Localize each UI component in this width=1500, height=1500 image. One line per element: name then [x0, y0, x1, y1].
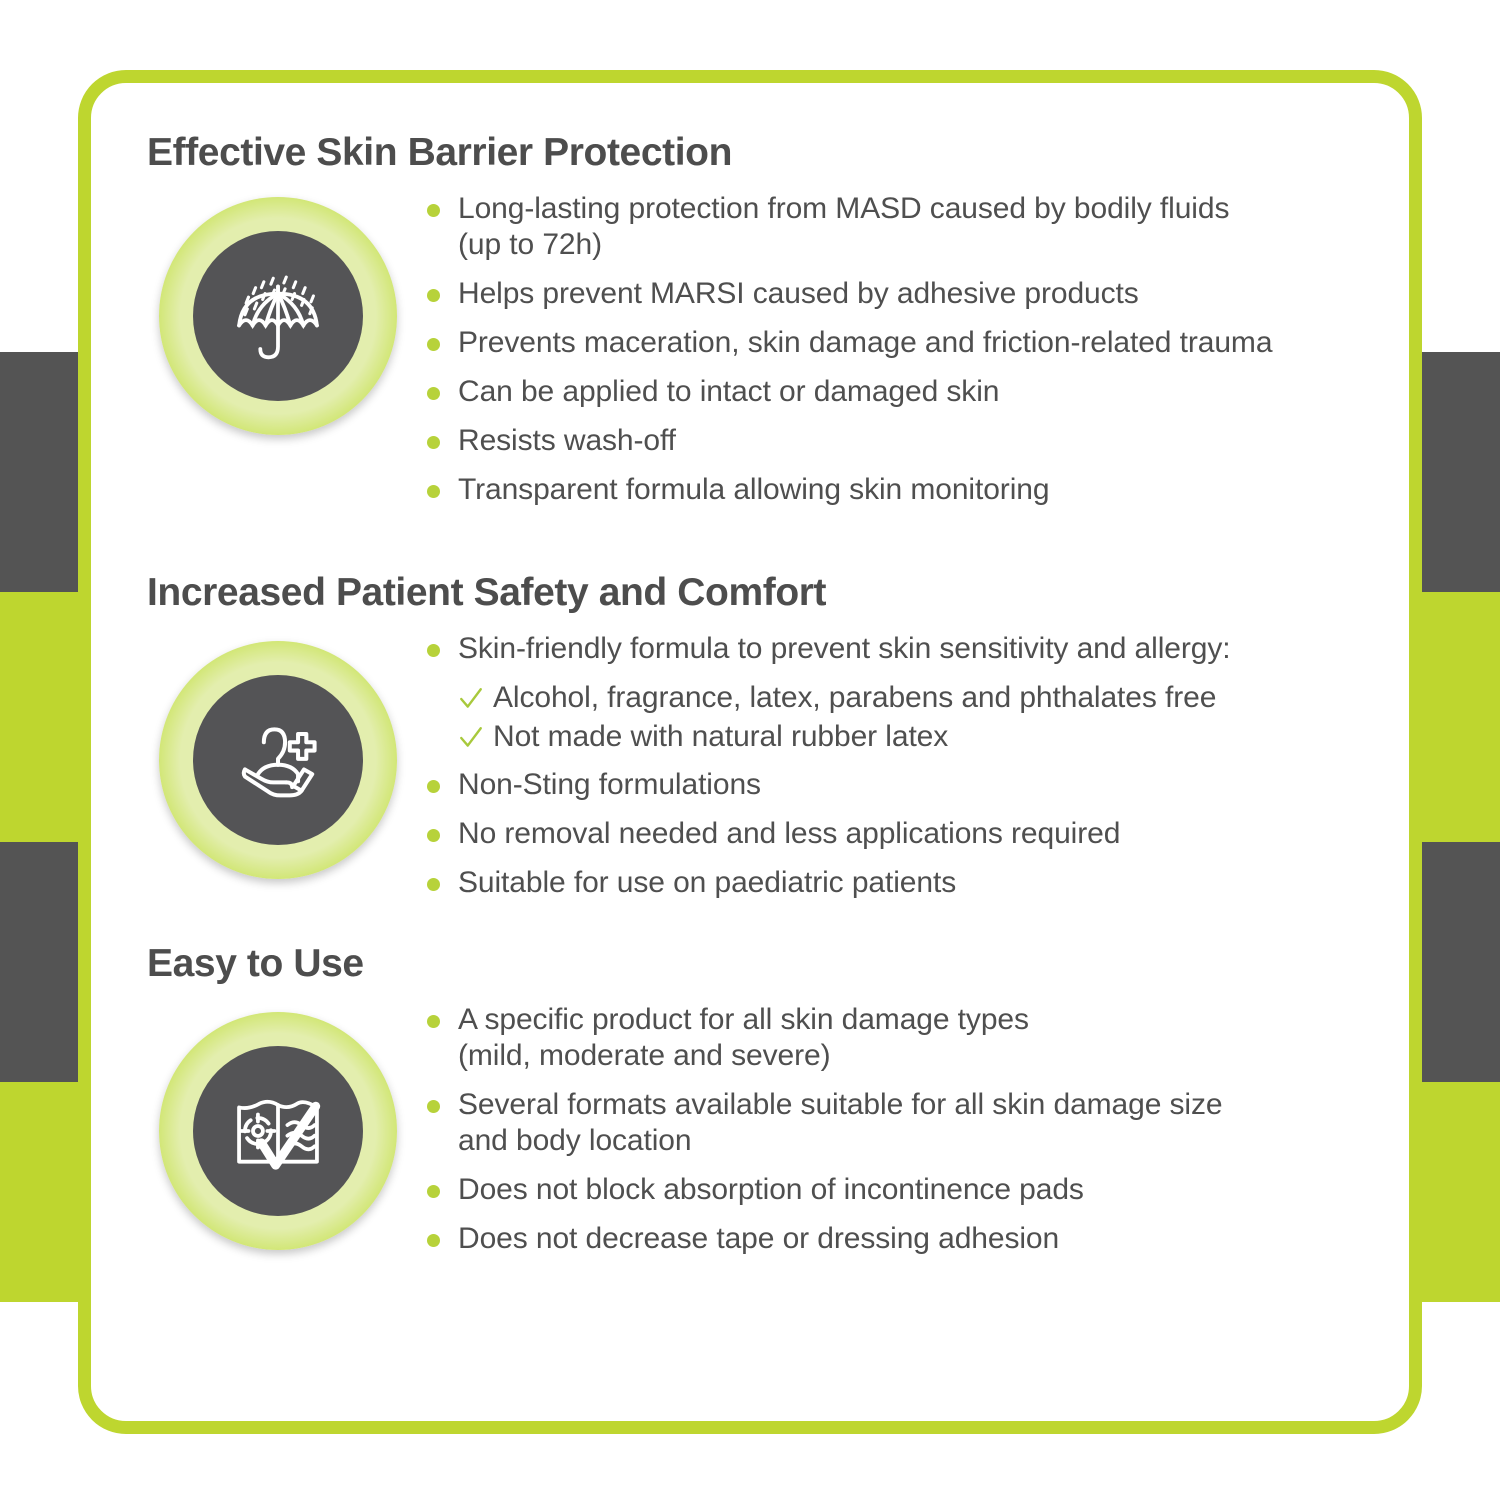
bullet-dot-icon: [427, 1234, 440, 1247]
bullet-dot-icon: [427, 1185, 440, 1198]
bullet-dot-icon: [427, 1015, 440, 1028]
hand-patient-care-badge: [147, 629, 409, 891]
umbrella-rain-icon: [219, 257, 337, 375]
list-item: Long-lasting protection from MASD caused…: [427, 191, 1369, 263]
list-item: Does not decrease tape or dressing adhes…: [427, 1221, 1369, 1257]
checkmark-icon: [458, 686, 484, 712]
section-increased-patient-safety-and-comfort: Increased Patient Safety and Comfort: [147, 571, 1369, 914]
section-body: A specific product for all skin damage t…: [147, 996, 1369, 1270]
list-item: Prevents maceration, skin damage and fri…: [427, 325, 1369, 361]
bullet-text: Long-lasting protection from MASD caused…: [458, 191, 1229, 263]
bullet-dot-icon: [427, 780, 440, 793]
section-easy-to-use: Easy to Use: [147, 942, 1369, 1270]
list-item: Resists wash-off: [427, 423, 1369, 459]
section-heading: Increased Patient Safety and Comfort: [147, 571, 1369, 615]
bullet-text: Can be applied to intact or damaged skin: [458, 374, 999, 410]
bullet-dot-icon: [427, 387, 440, 400]
list-item: Several formats available suitable for a…: [427, 1087, 1369, 1159]
section-body: Long-lasting protection from MASD caused…: [147, 185, 1369, 521]
sub-list-item: Alcohol, fragrance, latex, parabens and …: [458, 680, 1369, 717]
bullet-text: Prevents maceration, skin damage and fri…: [458, 325, 1272, 361]
bullet-text: Resists wash-off: [458, 423, 676, 459]
bullet-dot-icon: [427, 338, 440, 351]
list-item: Helps prevent MARSI caused by adhesive p…: [427, 276, 1369, 312]
hand-patient-care-icon: [219, 701, 337, 819]
bullet-text: Non-Sting formulations: [458, 767, 761, 803]
bullet-text: Does not decrease tape or dressing adhes…: [458, 1221, 1059, 1257]
bullet-text: Helps prevent MARSI caused by adhesive p…: [458, 276, 1139, 312]
bullet-dot-icon: [427, 1100, 440, 1113]
list-item: Skin-friendly formula to prevent skin se…: [427, 631, 1369, 667]
infographic-frame: Effective Skin Barrier Protection: [78, 70, 1422, 1434]
list-item: No removal needed and less applications …: [427, 816, 1369, 852]
bullet-text: Suitable for use on paediatric patients: [458, 865, 956, 901]
bullet-text: No removal needed and less applications …: [458, 816, 1120, 852]
bullet-text: Several formats available suitable for a…: [458, 1087, 1222, 1159]
bullet-dot-icon: [427, 878, 440, 891]
bullet-list: A specific product for all skin damage t…: [409, 996, 1369, 1270]
sub-item-text: Not made with natural rubber latex: [493, 719, 948, 756]
brochure-check-badge: [147, 1000, 409, 1262]
section-effective-skin-barrier-protection: Effective Skin Barrier Protection: [147, 131, 1369, 521]
bullet-dot-icon: [427, 485, 440, 498]
brochure-check-icon: [219, 1072, 337, 1190]
list-item: Non-Sting formulations: [427, 767, 1369, 803]
bullet-dot-icon: [427, 829, 440, 842]
list-item: A specific product for all skin damage t…: [427, 1002, 1369, 1074]
sub-list-item: Not made with natural rubber latex: [458, 719, 1369, 756]
bullet-dot-icon: [427, 436, 440, 449]
bullet-dot-icon: [427, 204, 440, 217]
list-item: Does not block absorption of incontinenc…: [427, 1172, 1369, 1208]
bullet-text: A specific product for all skin damage t…: [458, 1002, 1029, 1074]
bullet-dot-icon: [427, 644, 440, 657]
list-item: Suitable for use on paediatric patients: [427, 865, 1369, 901]
umbrella-rain-badge: [147, 185, 409, 447]
checkmark-icon: [458, 725, 484, 751]
bullet-list: Long-lasting protection from MASD caused…: [409, 185, 1369, 521]
bullet-text: Transparent formula allowing skin monito…: [458, 472, 1049, 508]
section-body: Skin-friendly formula to prevent skin se…: [147, 625, 1369, 914]
sub-item-text: Alcohol, fragrance, latex, parabens and …: [493, 680, 1216, 717]
bullet-text: Skin-friendly formula to prevent skin se…: [458, 631, 1230, 667]
bullet-list: Skin-friendly formula to prevent skin se…: [409, 625, 1369, 914]
section-heading: Easy to Use: [147, 942, 1369, 986]
list-item: Can be applied to intact or damaged skin: [427, 374, 1369, 410]
bullet-text: Does not block absorption of incontinenc…: [458, 1172, 1084, 1208]
list-item: Transparent formula allowing skin monito…: [427, 472, 1369, 508]
infographic-content: Effective Skin Barrier Protection: [91, 83, 1409, 1421]
section-heading: Effective Skin Barrier Protection: [147, 131, 1369, 175]
bullet-dot-icon: [427, 289, 440, 302]
